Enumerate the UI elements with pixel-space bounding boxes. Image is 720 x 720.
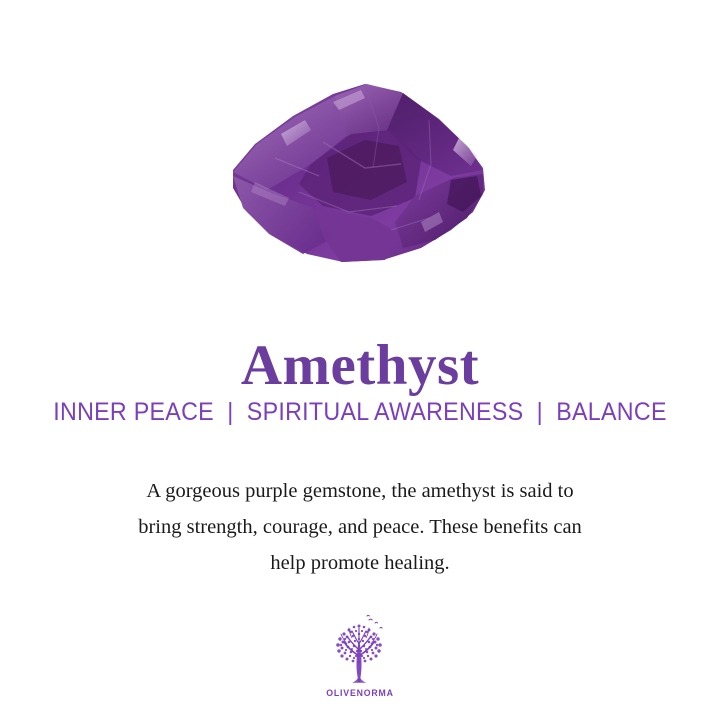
page-title: Amethyst	[0, 336, 720, 396]
description-line: A gorgeous purple gemstone, the amethyst…	[50, 473, 670, 509]
keyword-inner-peace: INNER PEACE	[53, 398, 214, 427]
brand-logo: OLIVENORMA	[0, 612, 720, 699]
brand-name: OLIVENORMA	[29, 688, 691, 699]
tree-of-life-icon	[323, 612, 397, 686]
keyword-separator-2: |	[530, 398, 549, 427]
keyword-spiritual-awareness: SPIRITUAL AWARENESS	[247, 398, 524, 427]
keyword-balance: BALANCE	[556, 398, 666, 427]
description-line: help promote healing.	[50, 545, 670, 581]
keyword-separator-1: |	[221, 398, 240, 427]
description-line: bring strength, courage, and peace. Thes…	[50, 509, 670, 545]
raw-amethyst-crystal-icon	[215, 72, 505, 272]
amethyst-info-card: Amethyst INNER PEACE | SPIRITUAL AWARENE…	[0, 0, 720, 720]
description-text: A gorgeous purple gemstone, the amethyst…	[50, 473, 670, 581]
keyword-line: INNER PEACE | SPIRITUAL AWARENESS | BALA…	[25, 398, 695, 427]
gemstone-image-container	[0, 72, 720, 272]
